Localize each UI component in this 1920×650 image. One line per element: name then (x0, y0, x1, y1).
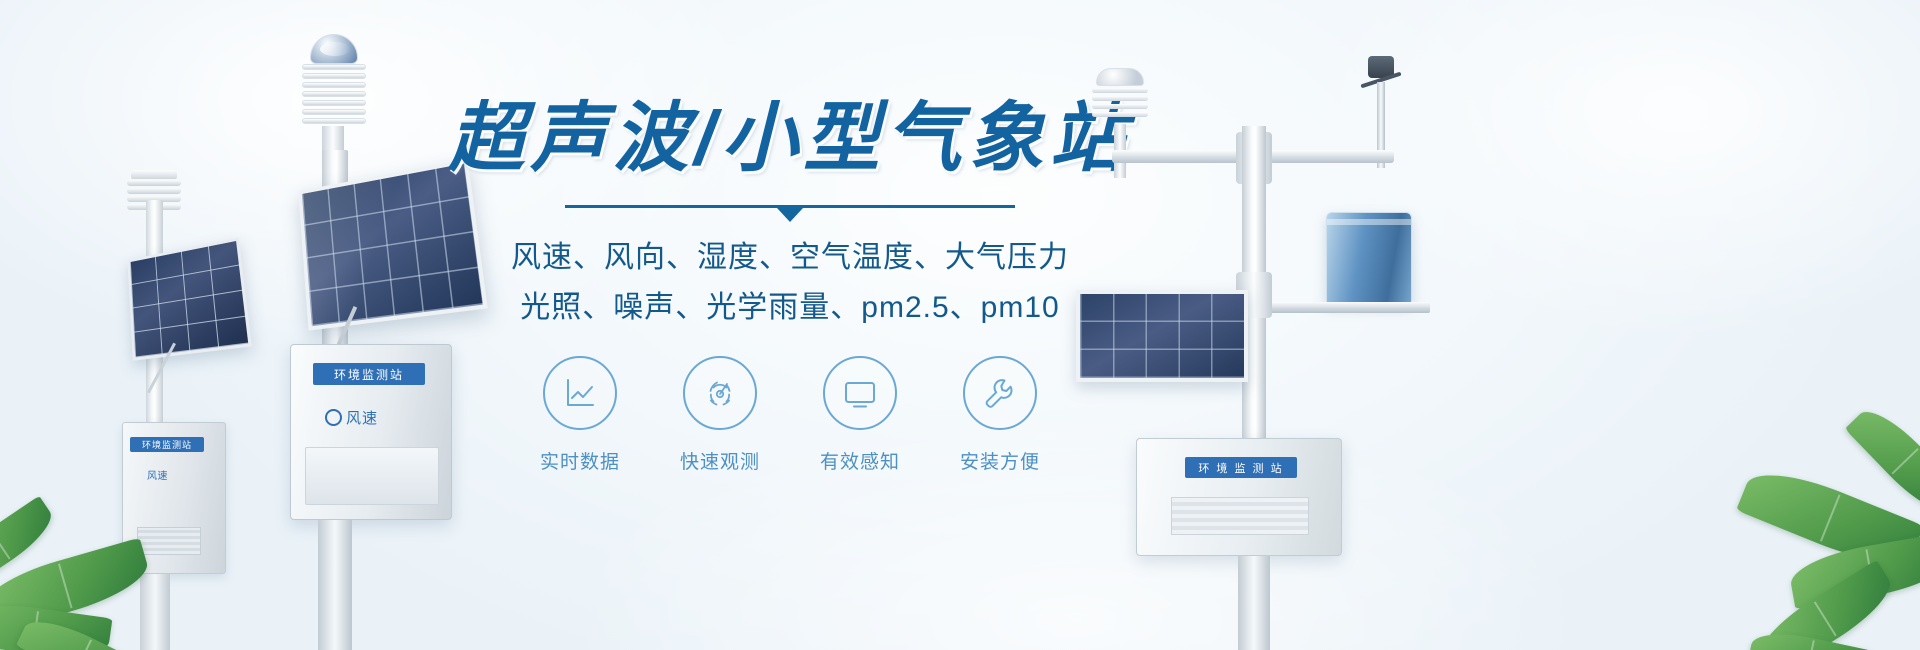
cabinet-label: 环 境 监 测 站 (1185, 457, 1297, 478)
brand-mark-icon (325, 409, 342, 426)
equipment-shelf (1266, 302, 1430, 313)
ultrasonic-sensor-head-icon (296, 34, 374, 152)
control-cabinet: 环境监测站 风速 (290, 344, 452, 520)
feature-label: 实时数据 (540, 447, 620, 474)
cabinet-vent (1171, 497, 1309, 535)
banner-content: 超声波/小型气象站 风速、风向、湿度、空气温度、大气压力 光照、噪声、光学雨量、… (440, 96, 1140, 566)
ultrasonic-anemometer-icon (1092, 68, 1148, 152)
product-banner: 环境监测站 风速 环境监测站 风速 超声波/ (0, 0, 1920, 650)
feature-item-easy-install[interactable]: 安装方便 (958, 356, 1042, 474)
solar-panel (127, 238, 251, 361)
feature-list: 实时数据 快速观测 (538, 356, 1042, 474)
station-base (1238, 556, 1270, 650)
optical-rain-gauge-icon (1326, 212, 1412, 304)
foliage-left (0, 440, 270, 650)
feature-label: 快速观测 (680, 447, 760, 474)
brand-logo: 风速 (325, 407, 378, 428)
foliage-right (1610, 400, 1920, 650)
feature-item-realtime-data[interactable]: 实时数据 (538, 356, 622, 474)
feature-item-effective-sensing[interactable]: 有效感知 (818, 356, 902, 474)
brand-name: 风速 (346, 407, 378, 428)
feature-label: 安装方便 (960, 447, 1040, 474)
title-divider (565, 201, 1015, 213)
page-title: 超声波/小型气象站 (448, 96, 1131, 181)
divider-triangle-icon (777, 208, 803, 222)
sensor-dome (310, 34, 358, 64)
weather-station-mast: 环 境 监 测 站 (1060, 40, 1460, 650)
cabinet-label: 环境监测站 (313, 363, 425, 385)
radar-sensor-icon (683, 356, 757, 430)
cabinet-door (305, 447, 439, 505)
wind-vane-icon (1356, 56, 1406, 152)
control-cabinet: 环 境 监 测 站 (1136, 438, 1342, 556)
radiation-shield-stack (302, 64, 366, 126)
sensor-neck (322, 126, 344, 152)
wrench-tool-icon (963, 356, 1037, 430)
feature-item-fast-observation[interactable]: 快速观测 (678, 356, 762, 474)
subtitle-line-2: 光照、噪声、光学雨量、pm2.5、pm10 (511, 283, 1069, 333)
line-chart-icon (543, 356, 617, 430)
monitor-screen-icon (823, 356, 897, 430)
subtitle-line-1: 风速、风向、湿度、空气温度、大气压力 (511, 233, 1069, 283)
station-base (318, 520, 352, 650)
feature-label: 有效感知 (820, 447, 900, 474)
subtitle-block: 风速、风向、湿度、空气温度、大气压力 光照、噪声、光学雨量、pm2.5、pm10 (511, 233, 1069, 332)
solar-panel (1076, 290, 1248, 382)
